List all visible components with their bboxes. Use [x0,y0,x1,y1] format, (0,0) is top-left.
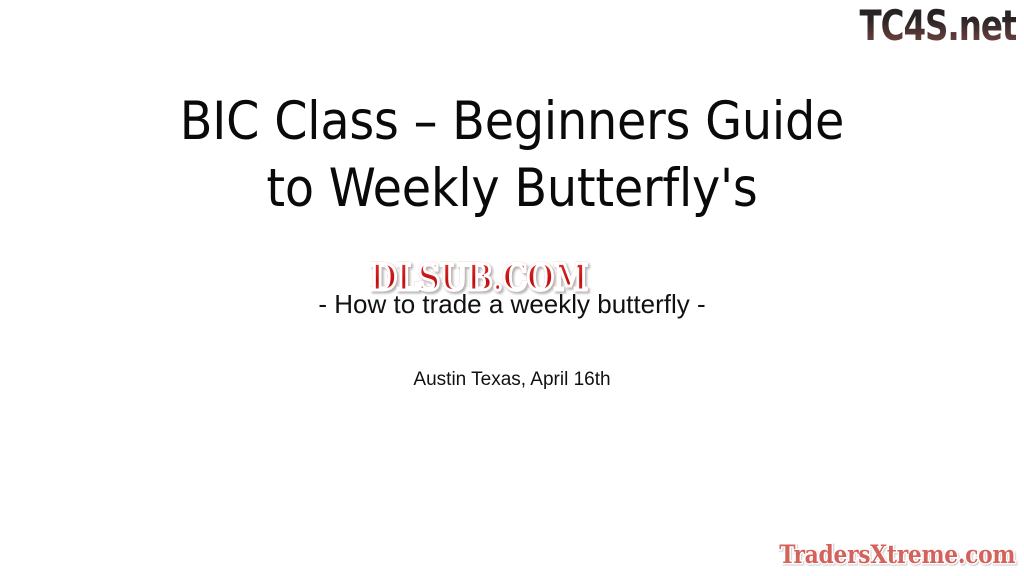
watermark-tradersxtreme-logo: TradersXtreme.com [779,540,1015,570]
presentation-slide: BIC Class – Beginners Guide to Weekly Bu… [0,0,1024,576]
watermark-dlsub-logo: DLSUB.COM [370,258,587,298]
slide-date-location: Austin Texas, April 16th [0,368,1024,392]
slide-title-line-1: BIC Class – Beginners Guide [0,88,1024,155]
watermark-tc4s-logo: TC4S.net [859,2,1016,50]
slide-title-line-2: to Weekly Butterfly's [0,155,1024,222]
slide-title: BIC Class – Beginners Guide to Weekly Bu… [0,88,1024,222]
